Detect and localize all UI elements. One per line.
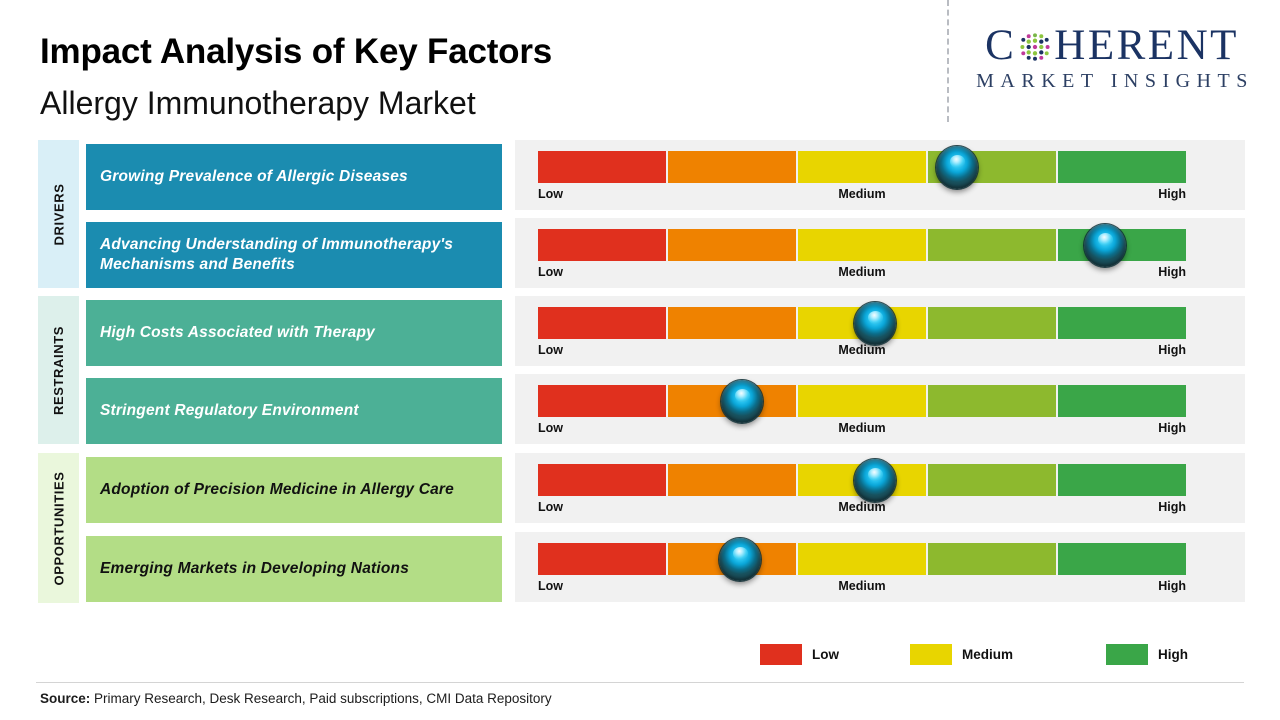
logo-letter-c: C [985, 24, 1016, 67]
gauge-segment-low [538, 464, 666, 496]
factor-label: High Costs Associated with Therapy [100, 323, 375, 343]
impact-marker[interactable] [936, 146, 978, 189]
page-title: Impact Analysis of Key Factors [40, 32, 552, 72]
gauge-bar [538, 151, 1186, 183]
factor-card[interactable]: Advancing Understanding of Immunotherapy… [86, 222, 502, 288]
legend-item-high: High [1106, 644, 1188, 665]
legend-swatch [760, 644, 802, 665]
scale-label-high: High [1158, 500, 1186, 514]
impact-gauge: Low Medium High [515, 218, 1245, 288]
gauge-segment-medium-high [928, 229, 1056, 261]
table-row: High Costs Associated with Therapy Low M… [0, 296, 1280, 366]
gauge-segment-low [538, 385, 666, 417]
scale-label-high: High [1158, 187, 1186, 201]
gauge-segment-medium [798, 543, 926, 575]
legend-item-low: Low [760, 644, 839, 665]
factor-card[interactable]: Adoption of Precision Medicine in Allerg… [86, 457, 502, 523]
table-row: Growing Prevalence of Allergic Diseases … [0, 140, 1280, 210]
scale-labels: Low Medium High [538, 421, 1186, 439]
factor-card[interactable]: Stringent Regulatory Environment [86, 378, 502, 444]
company-logo: C [962, 22, 1262, 93]
factor-card[interactable]: High Costs Associated with Therapy [86, 300, 502, 366]
impact-marker[interactable] [1084, 224, 1126, 267]
gauge-segment-medium-high [928, 385, 1056, 417]
factor-card[interactable]: Growing Prevalence of Allergic Diseases [86, 144, 502, 210]
logo-wordmark: C [962, 22, 1262, 68]
logo-word-herent: HERENT [1054, 24, 1239, 67]
scale-label-low: Low [538, 265, 563, 279]
gauge-segment-medium-high [928, 543, 1056, 575]
impact-marker[interactable] [854, 459, 896, 502]
gauge-segment-medium [798, 385, 926, 417]
factor-card[interactable]: Emerging Markets in Developing Nations [86, 536, 502, 602]
gauge-segment-low [538, 151, 666, 183]
table-row: Advancing Understanding of Immunotherapy… [0, 218, 1280, 288]
impact-marker[interactable] [854, 302, 896, 345]
gauge-segment-high [1058, 151, 1186, 183]
scale-label-medium: Medium [838, 187, 885, 201]
legend-swatch [910, 644, 952, 665]
table-row: Emerging Markets in Developing Nations L… [0, 532, 1280, 602]
footer-divider [36, 682, 1244, 683]
scale-label-low: Low [538, 343, 563, 357]
gauge-segment-low-medium [668, 307, 796, 339]
logo-divider [947, 0, 949, 122]
gauge-bar [538, 543, 1186, 575]
legend-swatch [1106, 644, 1148, 665]
impact-matrix: DRIVERS RESTRAINTS OPPORTUNITIES Growing… [0, 140, 1280, 610]
impact-gauge: Low Medium High [515, 453, 1245, 523]
gauge-segment-medium [798, 229, 926, 261]
scale-labels: Low Medium High [538, 579, 1186, 597]
impact-marker[interactable] [719, 538, 761, 581]
gauge-segment-medium-high [928, 307, 1056, 339]
header: Impact Analysis of Key Factors Allergy I… [0, 0, 1280, 132]
factor-label: Advancing Understanding of Immunotherapy… [100, 235, 488, 275]
gauge-segment-low-medium [668, 151, 796, 183]
source-note: Source: Primary Research, Desk Research,… [40, 691, 552, 706]
scale-label-medium: Medium [838, 421, 885, 435]
gauge-segment-low [538, 543, 666, 575]
legend-item-medium: Medium [910, 644, 1013, 665]
factor-label: Stringent Regulatory Environment [100, 401, 359, 421]
legend: Low Medium High [760, 644, 1200, 670]
scale-label-low: Low [538, 421, 563, 435]
source-text: Primary Research, Desk Research, Paid su… [90, 691, 551, 706]
table-row: Stringent Regulatory Environment Low Med… [0, 374, 1280, 444]
scale-label-low: Low [538, 500, 563, 514]
page-subtitle: Allergy Immunotherapy Market [40, 85, 476, 122]
legend-label: Medium [962, 647, 1013, 662]
scale-label-high: High [1158, 343, 1186, 357]
scale-labels: Low Medium High [538, 265, 1186, 283]
gauge-segment-low [538, 229, 666, 261]
gauge-segment-medium-high [928, 464, 1056, 496]
factor-label: Adoption of Precision Medicine in Allerg… [100, 480, 454, 500]
legend-label: High [1158, 647, 1188, 662]
impact-gauge: Low Medium High [515, 296, 1245, 366]
legend-label: Low [812, 647, 839, 662]
gauge-segment-high [1058, 464, 1186, 496]
factor-label: Emerging Markets in Developing Nations [100, 559, 409, 579]
source-label: Source: [40, 691, 90, 706]
impact-marker[interactable] [721, 380, 763, 423]
gauge-segment-high [1058, 543, 1186, 575]
impact-gauge: Low Medium High [515, 532, 1245, 602]
scale-label-low: Low [538, 579, 563, 593]
factor-label: Growing Prevalence of Allergic Diseases [100, 167, 408, 187]
impact-gauge: Low Medium High [515, 140, 1245, 210]
gauge-segment-high [1058, 385, 1186, 417]
gauge-segment-low-medium [668, 229, 796, 261]
scale-labels: Low Medium High [538, 500, 1186, 518]
scale-label-medium: Medium [838, 500, 885, 514]
scale-labels: Low Medium High [538, 343, 1186, 361]
scale-label-low: Low [538, 187, 563, 201]
scale-label-medium: Medium [838, 265, 885, 279]
scale-label-high: High [1158, 265, 1186, 279]
gauge-segment-high [1058, 307, 1186, 339]
gauge-segment-low [538, 307, 666, 339]
table-row: Adoption of Precision Medicine in Allerg… [0, 453, 1280, 523]
impact-gauge: Low Medium High [515, 374, 1245, 444]
logo-tagline: MARKET INSIGHTS [962, 70, 1262, 93]
scale-label-medium: Medium [838, 579, 885, 593]
scale-labels: Low Medium High [538, 187, 1186, 205]
scale-label-high: High [1158, 579, 1186, 593]
gauge-bar [538, 385, 1186, 417]
scale-label-high: High [1158, 421, 1186, 435]
globe-dots-icon [1017, 29, 1053, 65]
gauge-segment-medium [798, 151, 926, 183]
scale-label-medium: Medium [838, 343, 885, 357]
gauge-segment-low-medium [668, 464, 796, 496]
